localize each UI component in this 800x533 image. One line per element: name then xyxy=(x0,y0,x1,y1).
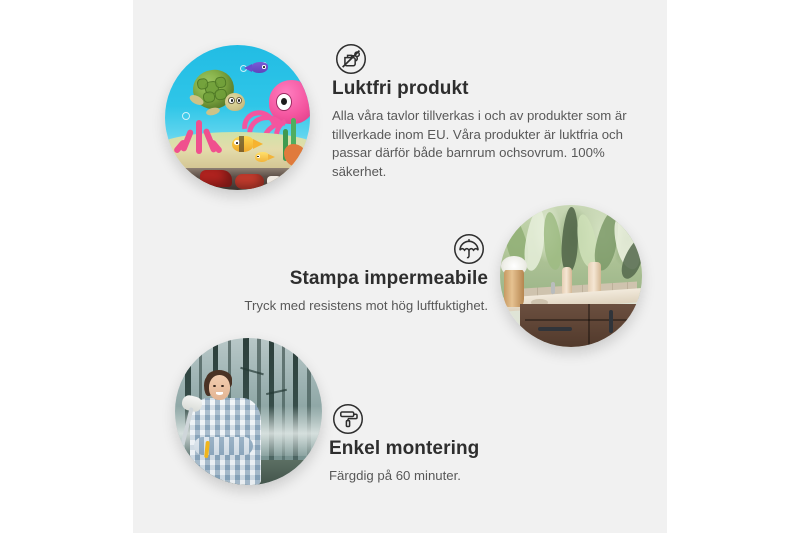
bathroom-scene xyxy=(500,205,642,347)
feature-easy-mounting: Enkel montering Färgdig på 60 minuter. xyxy=(329,400,619,486)
paint-roller-icon xyxy=(329,400,367,438)
coral-illustration xyxy=(177,120,221,158)
feature-title: Enkel montering xyxy=(329,438,619,461)
feature-waterproof: Stampa impermeabile Tryck med resistens … xyxy=(193,230,488,316)
content-panel: Luktfri produkt Alla våra tavlor tillver… xyxy=(133,0,667,533)
turtle-illustration xyxy=(188,68,246,120)
feature-body: Alla våra tavlor tillverkas i och av pro… xyxy=(332,107,632,182)
forest-scene xyxy=(175,338,322,485)
forest-mural-image xyxy=(175,338,322,485)
underwater-scene xyxy=(165,45,310,190)
woman-illustration xyxy=(184,370,266,485)
underwater-mural-image xyxy=(165,45,310,190)
umbrella-icon xyxy=(450,230,488,268)
feature-title: Stampa impermeabile xyxy=(193,268,488,291)
feature-body: Färgdig på 60 minuter. xyxy=(329,467,619,486)
feature-title: Luktfri produkt xyxy=(332,78,632,101)
feature-body: Tryck med resistens mot hög luftfuktighe… xyxy=(193,297,488,316)
feature-odourless: Luktfri produkt Alla våra tavlor tillver… xyxy=(332,40,632,182)
product-features-infographic: Luktfri produkt Alla våra tavlor tillver… xyxy=(0,0,800,533)
no-fragrance-icon xyxy=(332,40,370,78)
bathroom-mural-image xyxy=(500,205,642,347)
